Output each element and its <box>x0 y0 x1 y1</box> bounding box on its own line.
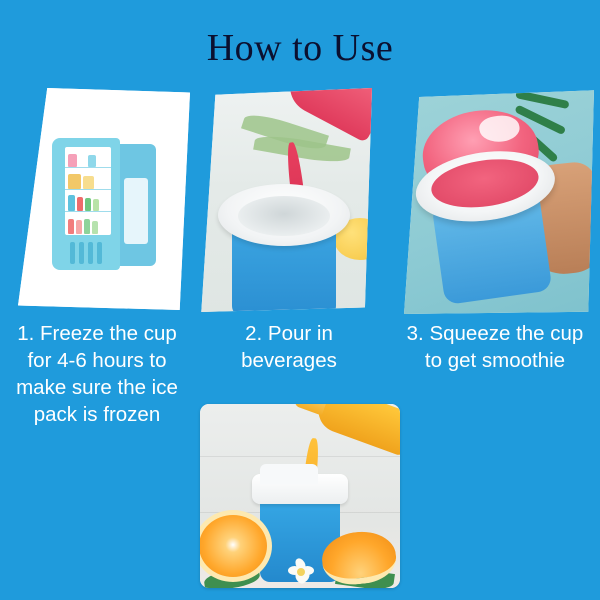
page-title: How to Use <box>0 26 600 70</box>
fridge-item <box>68 174 81 189</box>
fridge-shelf <box>65 213 111 234</box>
fridge-item <box>85 198 91 211</box>
fridge-item <box>84 219 90 234</box>
juice-bottle <box>312 404 400 457</box>
cup-lid <box>252 474 348 504</box>
fridge-shelf <box>65 169 111 190</box>
fridge-item <box>93 199 99 211</box>
step-3-caption: 3. Squeeze the cup to get smoothie <box>396 320 594 374</box>
fridge-item <box>76 220 82 234</box>
pour-beverage-photo <box>196 88 372 312</box>
fridge-item <box>88 155 96 167</box>
fridge-illustration <box>18 88 190 310</box>
fridge-shelf <box>65 147 111 168</box>
fridge-item <box>68 219 74 234</box>
fridge-interior <box>65 147 111 235</box>
fridge-item <box>83 176 94 189</box>
step-1-image <box>18 88 190 310</box>
step-3-image <box>404 88 594 314</box>
slushy-cup <box>218 184 350 312</box>
fridge-door-panel <box>124 178 148 244</box>
fridge-item <box>92 221 98 234</box>
fridge-item <box>77 197 83 211</box>
bottom-image <box>200 404 400 588</box>
cup-lid <box>218 184 350 246</box>
step-2-caption: 2. Pour in beverages <box>196 320 382 374</box>
fridge-icon <box>52 138 156 270</box>
how-to-use-infographic: How to Use <box>0 0 600 600</box>
blossom-decor <box>288 560 314 584</box>
squeeze-cup-photo <box>404 88 594 314</box>
fridge-item <box>68 154 77 167</box>
orange-juice-photo <box>200 404 400 588</box>
fridge-item <box>79 157 86 167</box>
fridge-body <box>52 138 120 270</box>
step-1-caption: 1. Freeze the cup for 4-6 hours to make … <box>6 320 188 428</box>
slushy-cup <box>405 101 572 309</box>
fridge-vents <box>70 242 112 264</box>
fridge-item <box>68 195 75 211</box>
step-2-image <box>196 88 372 312</box>
fridge-shelf <box>65 191 111 212</box>
fridge-door <box>114 144 156 266</box>
